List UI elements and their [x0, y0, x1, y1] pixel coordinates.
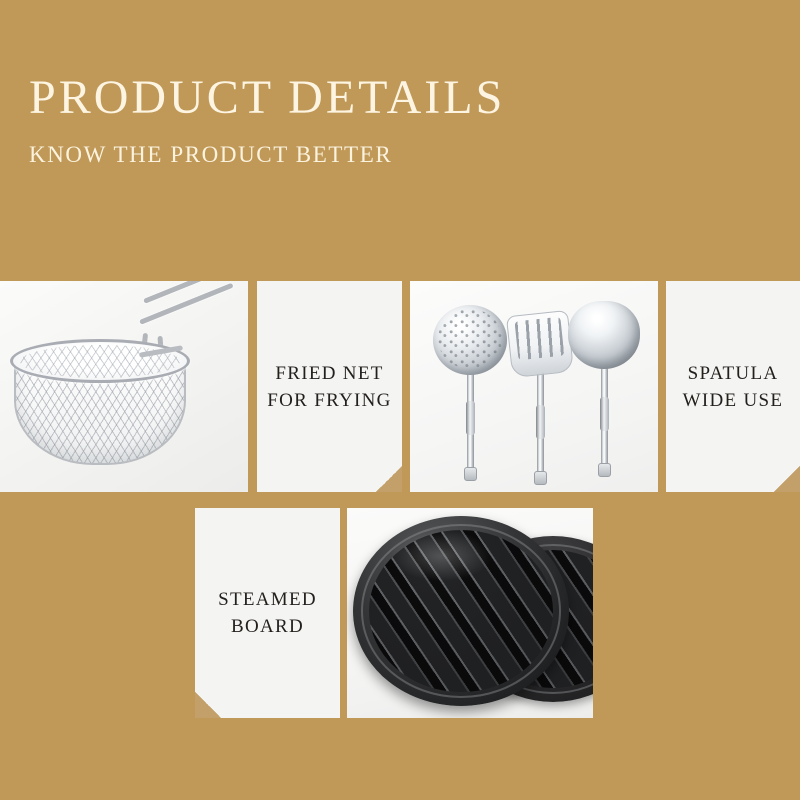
ladle-ferrule	[600, 397, 609, 431]
steamed-board-label-text: STEAMED BOARD	[218, 586, 317, 640]
ladle-head	[568, 301, 640, 369]
steamer-board-illustration	[347, 508, 593, 718]
ladle-utensil	[558, 301, 650, 481]
spatula-line-2: WIDE USE	[683, 387, 784, 414]
folded-corner-icon	[774, 466, 800, 492]
utensil-set-illustration	[410, 281, 658, 492]
steamer-board-front	[353, 516, 569, 706]
steamer-board-photo	[347, 508, 593, 718]
spatula-label-text: SPATULA WIDE USE	[683, 360, 784, 414]
page-subtitle: KNOW THE PRODUCT BETTER	[29, 141, 392, 168]
skimmer-tip	[464, 467, 477, 481]
fry-basket-illustration	[0, 281, 248, 492]
turner-ferrule	[536, 405, 545, 439]
steamed-board-line-1: STEAMED	[218, 586, 317, 613]
spatula-line-1: SPATULA	[683, 360, 784, 387]
fried-net-label: FRIED NET FOR FRYING	[257, 281, 402, 492]
fried-net-line-1: FRIED NET	[267, 360, 391, 387]
basket-handle-lower	[139, 283, 234, 325]
steamed-board-label: STEAMED BOARD	[195, 508, 340, 718]
steamed-board-line-2: BOARD	[218, 613, 317, 640]
fry-basket-photo	[0, 281, 248, 492]
folded-corner-icon	[376, 466, 402, 492]
skimmer-perforations	[438, 309, 502, 369]
folded-corner-icon	[195, 692, 221, 718]
fried-net-line-2: FOR FRYING	[267, 387, 391, 414]
turner-tip	[534, 471, 547, 485]
page-title: PRODUCT DETAILS	[29, 72, 505, 124]
fried-net-label-text: FRIED NET FOR FRYING	[267, 360, 391, 414]
skimmer-ferrule	[466, 401, 475, 435]
ladle-tip	[598, 463, 611, 477]
utensil-set-photo	[410, 281, 658, 492]
header-banner: PRODUCT DETAILS KNOW THE PRODUCT BETTER	[0, 0, 800, 281]
spatula-label: SPATULA WIDE USE	[666, 281, 800, 492]
steamer-board-highlight	[392, 531, 491, 580]
